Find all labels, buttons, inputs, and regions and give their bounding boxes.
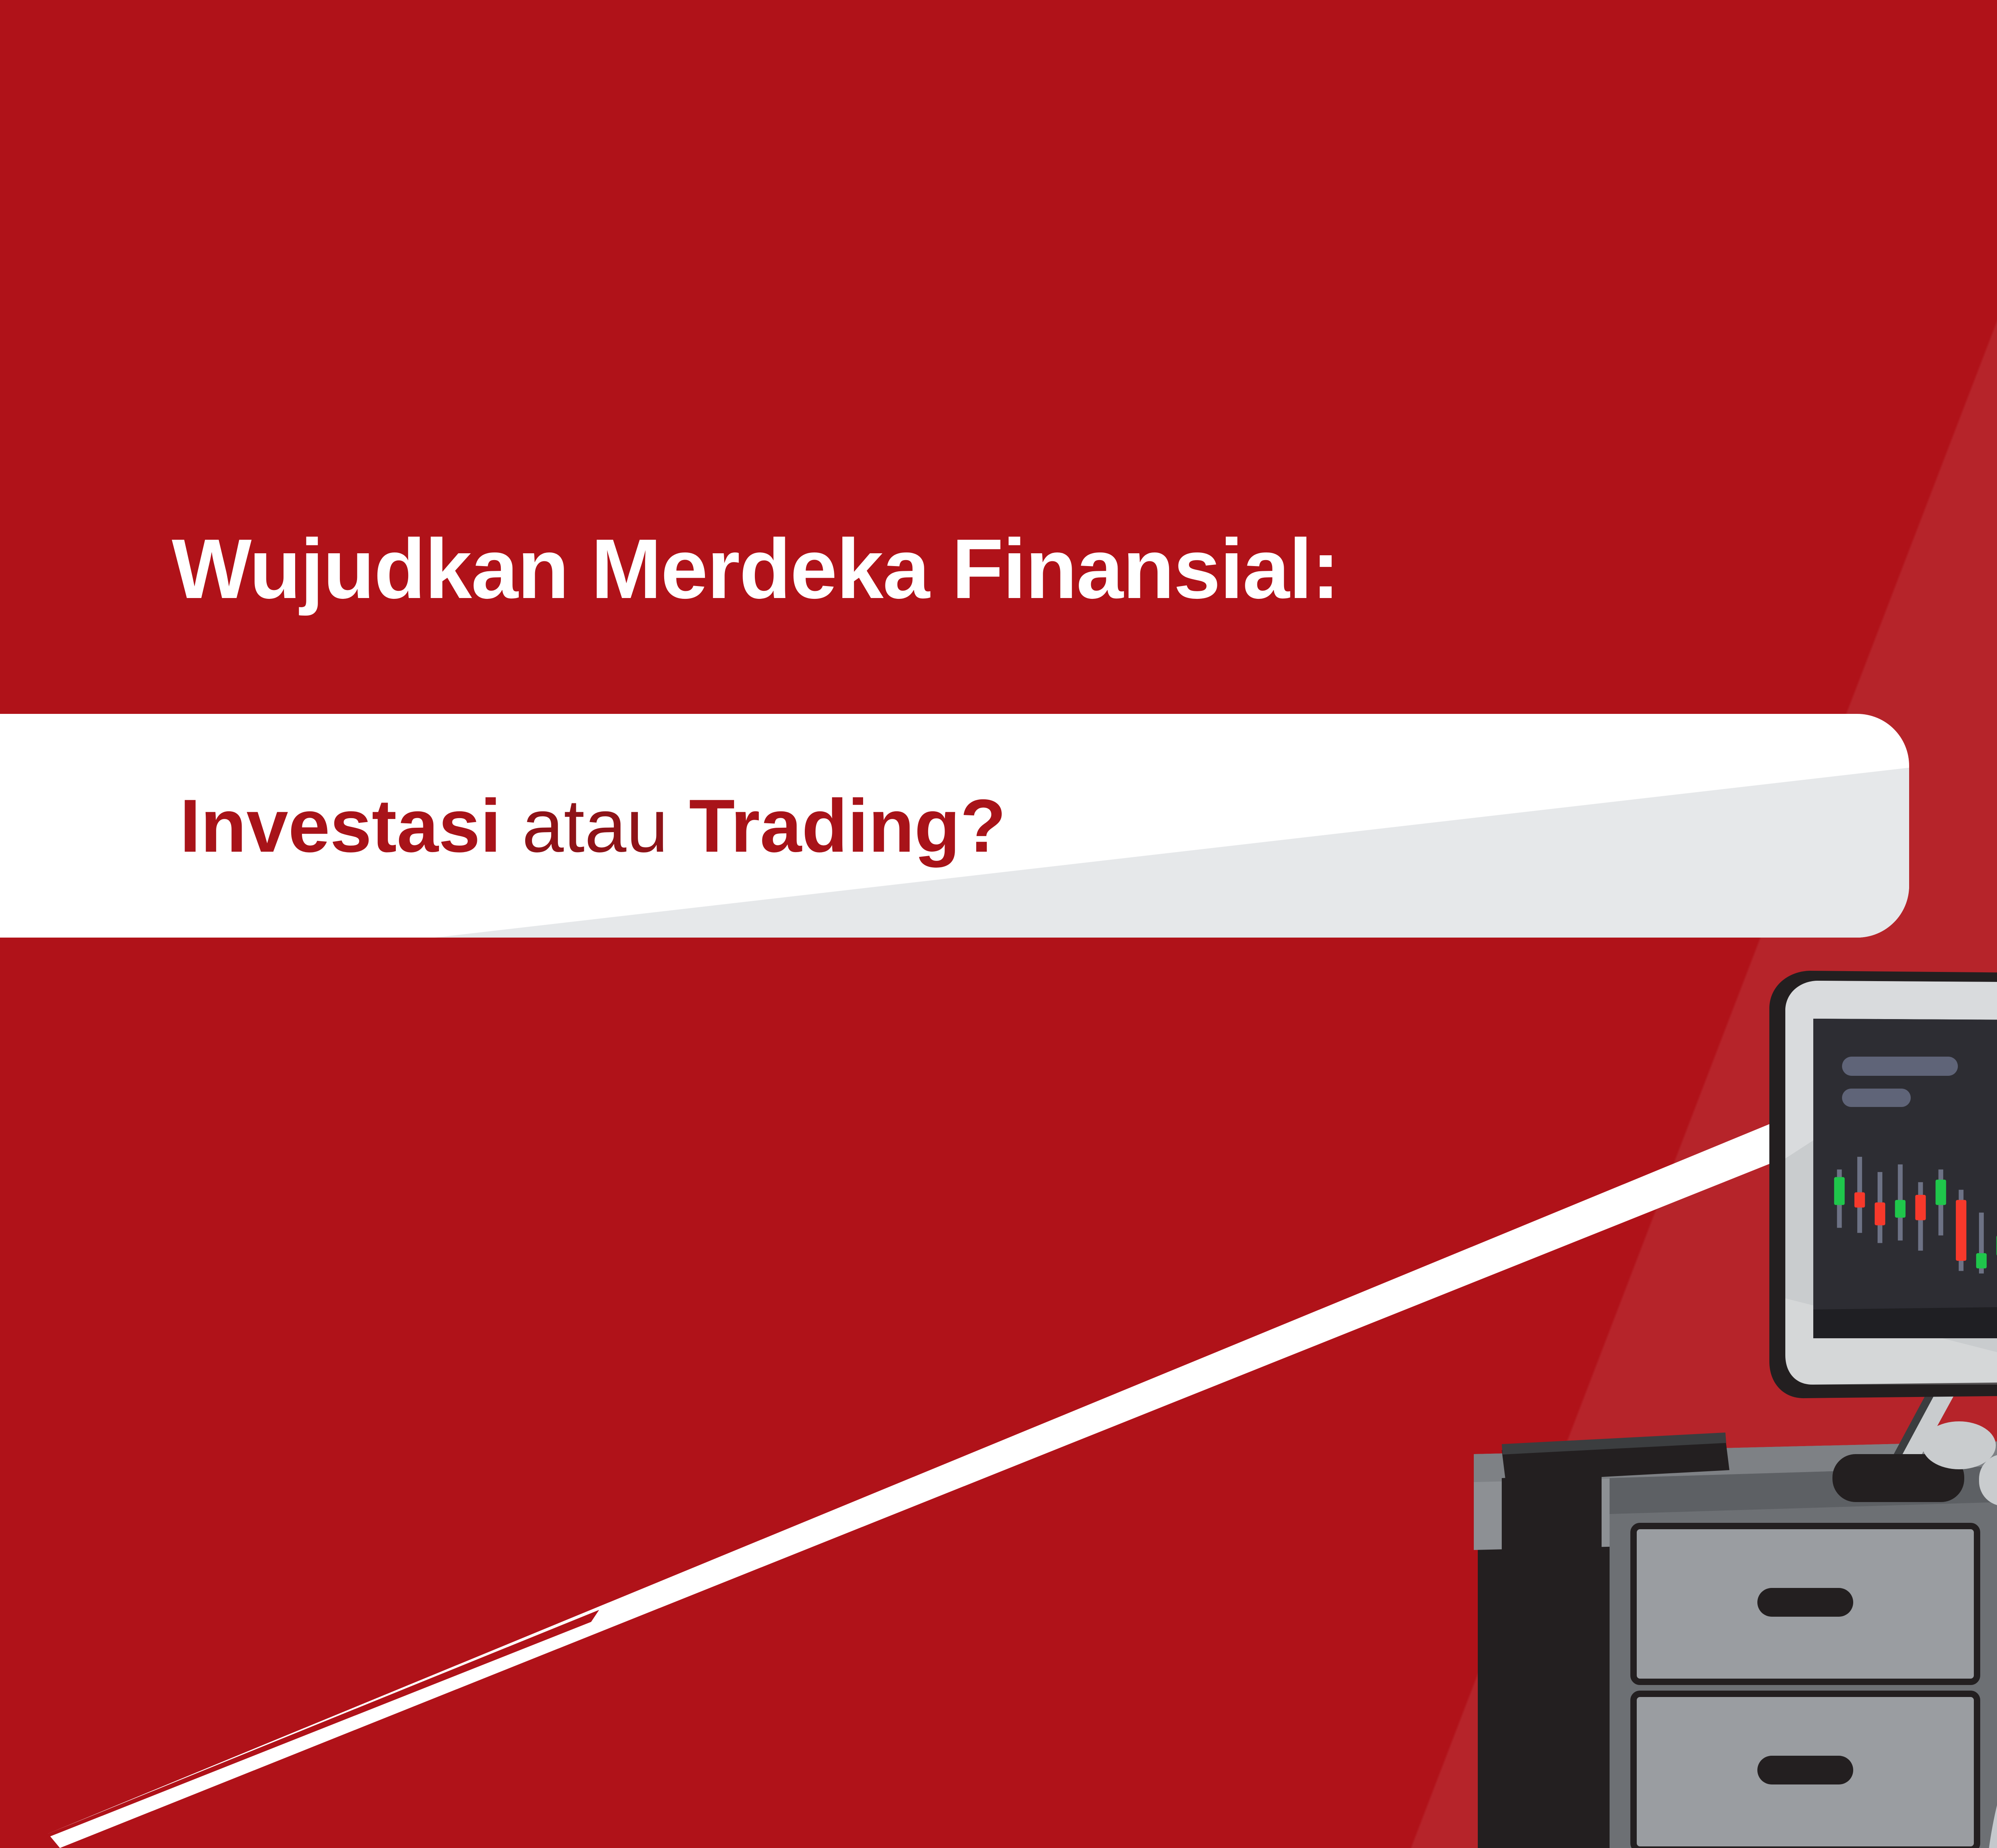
- subtitle-word-investasi: Investasi: [180, 784, 501, 868]
- banner-canvas: 1NDONES1A MAJU Wujudkan Merdeka Finansia…: [0, 0, 1997, 1848]
- subtitle-banner: Investasi atau Trading?: [0, 714, 1909, 938]
- subtitle-word-atau: atau: [522, 784, 668, 868]
- subtitle-word-trading: Trading?: [689, 784, 1006, 868]
- page-title: Wujudkan Merdeka Finansial:: [172, 527, 1339, 611]
- subtitle-text: Investasi atau Trading?: [180, 788, 1006, 863]
